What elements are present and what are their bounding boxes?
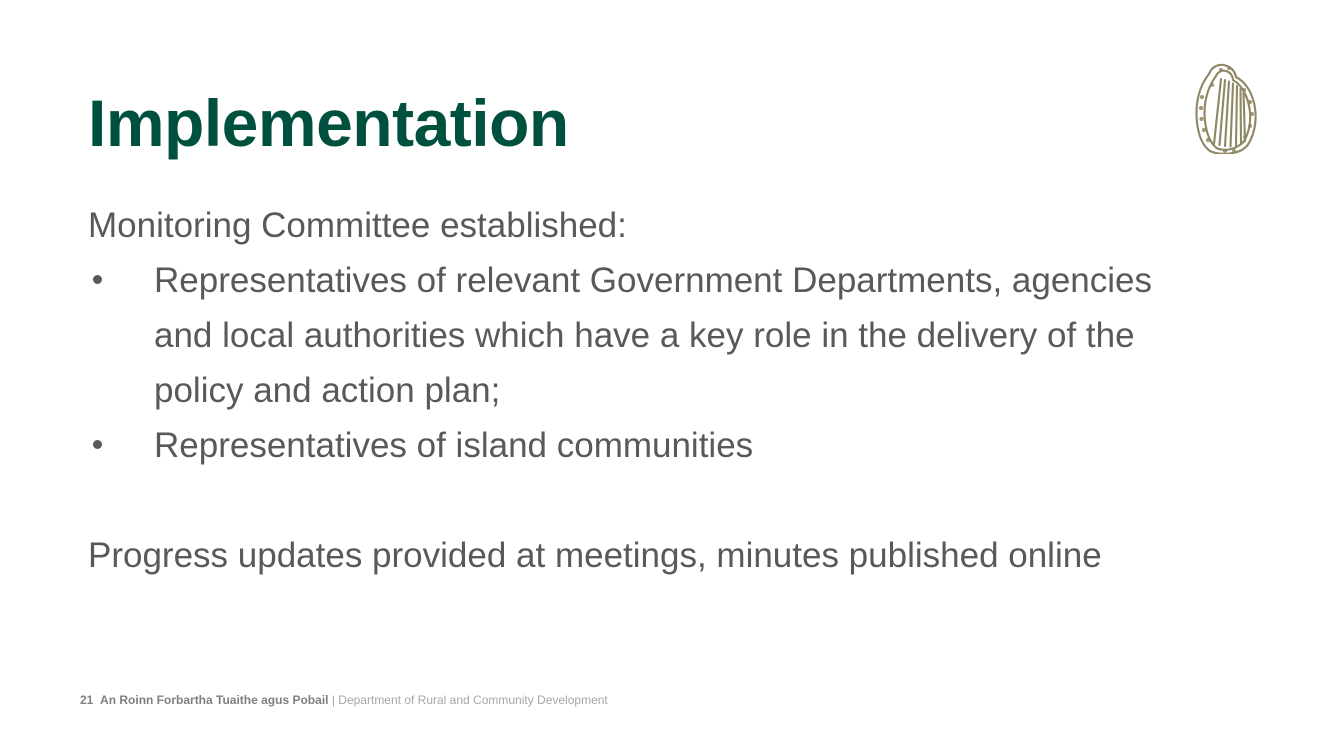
slide: Implementation [0,0,1333,750]
closing-line: Progress updates provided at meetings, m… [88,528,1248,583]
list-item-text: Representatives of island communities [154,418,1248,473]
list-item: Representatives of relevant Government D… [88,253,1248,418]
body-spacer [88,473,1248,528]
irish-harp-emblem [1192,52,1272,154]
lead-line: Monitoring Committee established: [88,198,1248,253]
page-number: 21 [80,693,93,707]
page-title: Implementation [88,88,569,159]
department-name-english: Department of Rural and Community Develo… [338,693,607,707]
slide-body: Monitoring Committee established: Repres… [88,198,1248,583]
department-name-irish: An Roinn Forbartha Tuaithe agus Pobail [100,693,328,707]
bullet-dot-icon [93,440,102,449]
footer: 21 An Roinn Forbartha Tuaithe agus Pobai… [80,692,608,708]
list-item-text: Representatives of relevant Government D… [154,253,1164,418]
bullet-list: Representatives of relevant Government D… [88,253,1248,473]
list-item: Representatives of island communities [88,418,1248,473]
bullet-dot-icon [93,275,102,284]
